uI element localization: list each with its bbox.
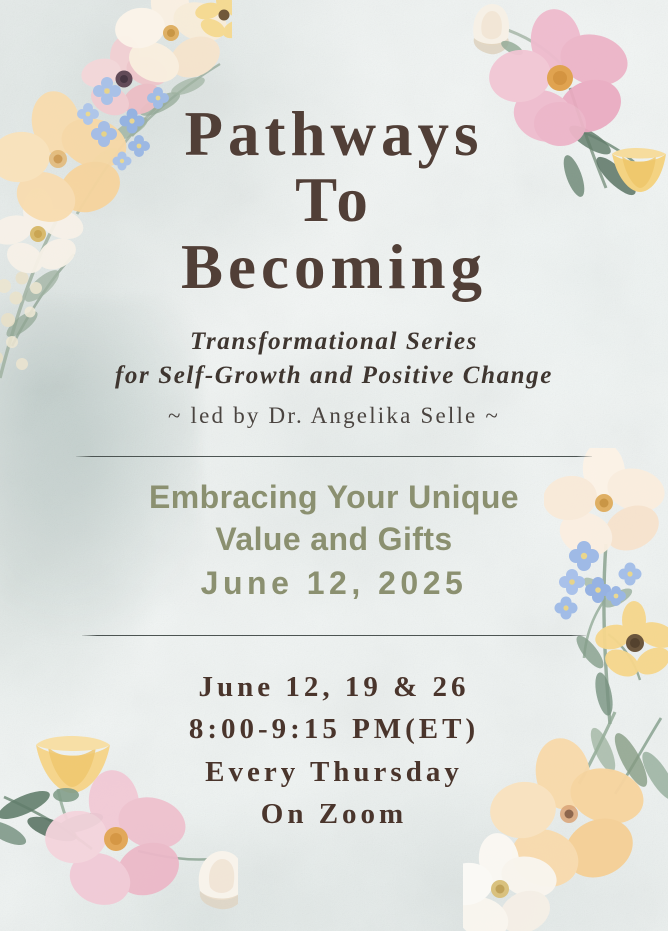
title-line-2: To	[0, 170, 668, 232]
session-date: June 12, 2025	[0, 562, 668, 604]
poster-title: Pathways To Becoming	[0, 104, 668, 301]
schedule-dates: June 12, 19 & 26	[0, 666, 668, 708]
poster-subtitle: Transformational Series for Self-Growth …	[0, 325, 668, 429]
session-lines: Embracing Your Unique Value and Gifts Ju…	[0, 457, 668, 605]
schedule-block: June 12, 19 & 26 8:00-9:15 PM(ET) Every …	[0, 666, 668, 834]
session-topic-line-1: Embracing Your Unique	[0, 476, 668, 518]
led-by-line: ~ led by Dr. Angelika Selle ~	[0, 403, 668, 429]
poster-canvas: Pathways To Becoming Transformational Se…	[0, 0, 668, 931]
schedule-platform: On Zoom	[0, 793, 668, 835]
divider-bottom	[82, 635, 586, 636]
schedule-frequency: Every Thursday	[0, 751, 668, 793]
schedule-time: 8:00-9:15 PM(ET)	[0, 708, 668, 750]
poster-content: Pathways To Becoming Transformational Se…	[0, 0, 668, 931]
subtitle-line-1: Transformational Series	[0, 325, 668, 359]
subtitle-line-2: for Self-Growth and Positive Change	[0, 359, 668, 393]
session-block: Embracing Your Unique Value and Gifts Ju…	[0, 456, 668, 637]
title-line-3: Becoming	[0, 237, 668, 299]
session-topic-line-2: Value and Gifts	[0, 518, 668, 560]
title-line-1: Pathways	[0, 104, 668, 166]
